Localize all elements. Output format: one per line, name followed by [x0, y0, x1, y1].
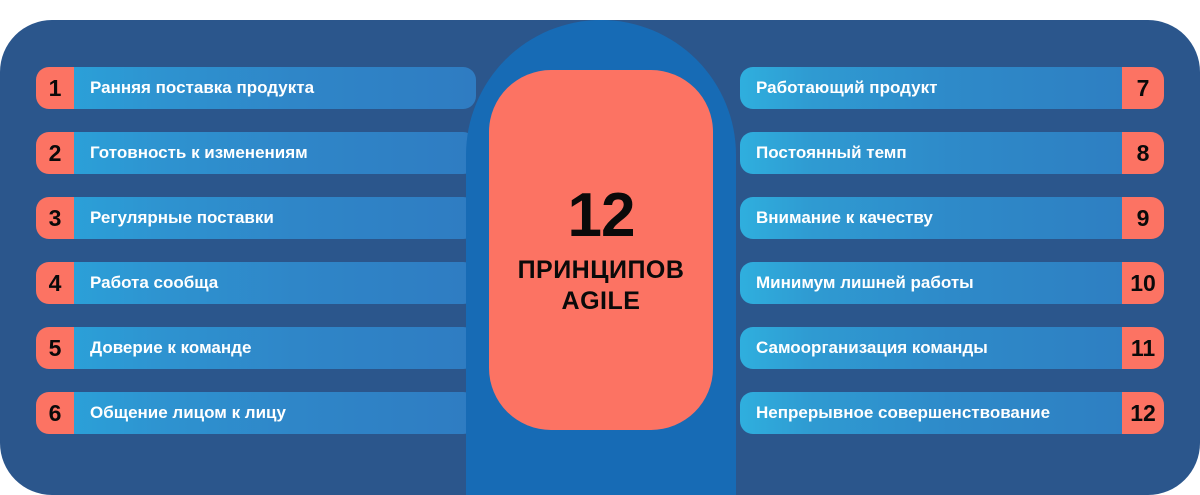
principle-number-badge: 3	[36, 197, 74, 239]
principle-row[interactable]: 2Готовность к изменениям	[36, 132, 476, 174]
center-number: 12	[568, 185, 635, 247]
principle-row[interactable]: Постоянный темп8	[740, 132, 1164, 174]
principle-label: Готовность к изменениям	[74, 132, 476, 174]
principle-row[interactable]: 3Регулярные поставки	[36, 197, 476, 239]
principle-number-badge: 1	[36, 67, 74, 109]
principle-number-badge: 7	[1122, 67, 1164, 109]
center-subtitle: AGILE	[562, 288, 641, 316]
principle-number-badge: 6	[36, 392, 74, 434]
principle-row[interactable]: 4Работа сообща	[36, 262, 476, 304]
principle-number-badge: 5	[36, 327, 74, 369]
principle-row[interactable]: 1Ранняя поставка продукта	[36, 67, 476, 109]
principle-row[interactable]: Работающий продукт7	[740, 67, 1164, 109]
principle-row[interactable]: 5Доверие к команде	[36, 327, 476, 369]
principle-number-badge: 8	[1122, 132, 1164, 174]
principle-label: Ранняя поставка продукта	[74, 67, 476, 109]
principle-label: Внимание к качеству	[740, 197, 1122, 239]
principle-row[interactable]: Самоорганизация команды11	[740, 327, 1164, 369]
principle-number-badge: 10	[1122, 262, 1164, 304]
principle-label: Работающий продукт	[740, 67, 1122, 109]
principle-row[interactable]: Внимание к качеству9	[740, 197, 1164, 239]
principle-label: Доверие к команде	[74, 327, 476, 369]
principle-number-badge: 11	[1122, 327, 1164, 369]
principle-row[interactable]: Минимум лишней работы10	[740, 262, 1164, 304]
principle-row[interactable]: 6Общение лицом к лицу	[36, 392, 476, 434]
principle-label: Постоянный темп	[740, 132, 1122, 174]
principle-label: Непрерывное совершенствование	[740, 392, 1122, 434]
principle-number-badge: 9	[1122, 197, 1164, 239]
left-principles-column: 1Ранняя поставка продукта2Готовность к и…	[36, 0, 476, 495]
principle-label: Минимум лишней работы	[740, 262, 1122, 304]
principle-number-badge: 12	[1122, 392, 1164, 434]
right-principles-column: Работающий продукт7Постоянный темп8Внима…	[740, 0, 1164, 495]
principle-label: Общение лицом к лицу	[74, 392, 476, 434]
principle-row[interactable]: Непрерывное совершенствование12	[740, 392, 1164, 434]
center-word: ПРИНЦИПОВ	[518, 257, 685, 285]
principle-number-badge: 4	[36, 262, 74, 304]
center-title-card: 12 ПРИНЦИПОВ AGILE	[489, 70, 713, 430]
principle-label: Работа сообща	[74, 262, 476, 304]
principle-label: Регулярные поставки	[74, 197, 476, 239]
agile-principles-infographic: 1Ранняя поставка продукта2Готовность к и…	[0, 0, 1200, 495]
principle-label: Самоорганизация команды	[740, 327, 1122, 369]
principle-number-badge: 2	[36, 132, 74, 174]
